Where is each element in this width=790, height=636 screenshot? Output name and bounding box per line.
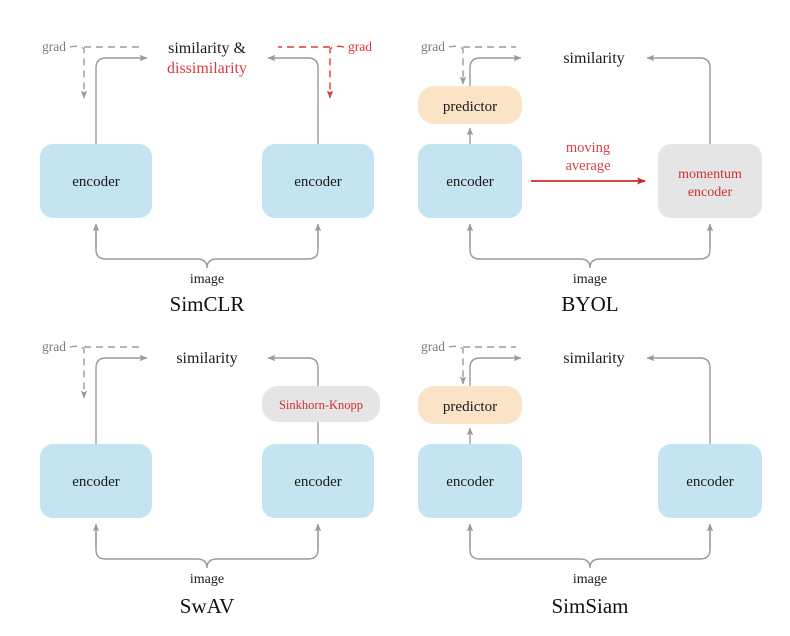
simsiam-right-forward-arrow [647,358,710,444]
swav-image-brace [96,528,318,568]
simclr-left-encoder-label: encoder [72,174,119,190]
simsiam-left-encoder[interactable]: encoder [418,444,522,518]
swav-grad-arrow [70,346,84,398]
byol-predictor[interactable]: predictor [418,86,522,124]
simclr-image-brace [96,228,318,268]
simsiam-right-encoder[interactable]: encoder [658,444,762,518]
swav-left-encoder-label: encoder [72,474,119,490]
byol-momentum-encoder[interactable]: momentum encoder [658,144,762,218]
simclr-left-encoder[interactable]: encoder [40,144,152,218]
byol-image-label: image [573,272,607,287]
byol-title: BYOL [561,292,618,316]
byol-momentum-encoder-line2: encoder [688,185,733,200]
simclr-right-encoder-label: encoder [294,174,341,190]
swav-objective-label: similarity [176,350,237,367]
simclr-image-label: image [190,272,224,287]
simclr-right-encoder[interactable]: encoder [262,144,374,218]
swav-grad-label: grad [42,339,66,354]
byol-objective-label: similarity [563,50,624,67]
simsiam-grad-label: grad [421,339,445,354]
simclr-objective-line2: dissimilarity [167,60,247,77]
swav-right-encoder[interactable]: encoder [262,444,374,518]
swav-sinkhorn-knopp-label: Sinkhorn-Knopp [279,398,363,412]
swav-sinkhorn-knopp[interactable]: Sinkhorn-Knopp [262,386,380,422]
byol-left-encoder[interactable]: encoder [418,144,522,218]
simclr-right-grad-arrow [330,46,344,98]
simclr-left-grad-arrow [70,46,84,98]
simclr-left-forward-arrow [96,58,147,144]
panel-simsiam: predictor encoder encoder grad similarit… [418,339,762,618]
byol-grad-arrow [449,46,463,84]
simclr-right-grad-label: grad [348,39,372,54]
simsiam-left-encoder-label: encoder [446,474,493,490]
byol-moving-average-line2: average [565,158,610,174]
swav-right-encoder-label: encoder [294,474,341,490]
swav-left-forward-arrow [96,358,147,444]
panel-swav: encoder encoder Sinkhorn-Knopp grad simi… [40,339,380,618]
byol-moving-average-line1: moving [566,140,610,156]
simsiam-image-brace [470,528,710,568]
simsiam-grad-arrow [449,346,463,384]
simsiam-title: SimSiam [551,594,628,618]
byol-momentum-forward-arrow [647,58,710,144]
byol-image-brace [470,228,710,268]
byol-predictor-label: predictor [443,99,497,115]
simclr-objective-line1: similarity & [168,40,246,57]
simsiam-image-label: image [573,572,607,587]
self-supervised-methods-figure: encoder encoder grad grad similarity & d… [0,0,790,636]
simclr-left-grad-label: grad [42,39,66,54]
swav-sinkhorn-forward-arrow [268,358,318,386]
byol-grad-label: grad [421,39,445,54]
byol-left-encoder-label: encoder [446,174,493,190]
simsiam-predictor-forward-arrow [470,358,521,386]
simclr-right-forward-arrow [268,58,318,144]
panel-simclr: encoder encoder grad grad similarity & d… [40,39,374,316]
swav-image-label: image [190,572,224,587]
simclr-title: SimCLR [170,292,245,316]
simsiam-right-encoder-label: encoder [686,474,733,490]
swav-left-encoder[interactable]: encoder [40,444,152,518]
swav-title: SwAV [180,594,234,618]
simsiam-objective-label: similarity [563,350,624,367]
simsiam-predictor[interactable]: predictor [418,386,522,424]
panel-byol: predictor encoder momentum encoder grad … [418,39,762,316]
simsiam-predictor-label: predictor [443,399,497,415]
byol-predictor-forward-arrow [470,58,521,86]
byol-momentum-encoder-line1: momentum [678,167,742,182]
